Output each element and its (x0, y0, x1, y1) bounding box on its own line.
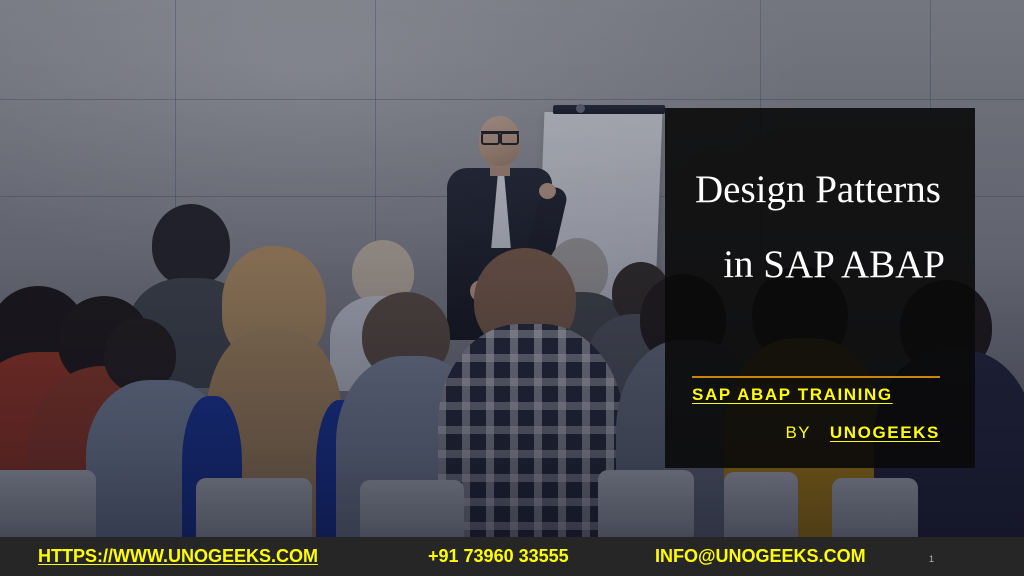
page-title-line-1: Design Patterns (687, 170, 945, 209)
footer-phone: +91 73960 33555 (428, 546, 569, 567)
byline-prefix: BY (785, 423, 810, 442)
course-name: SAP ABAP TRAINING (665, 386, 957, 403)
byline: BY UNOGEEKS (665, 424, 957, 441)
course-name-label: SAP ABAP TRAINING (692, 385, 893, 404)
presentation-slide: Design Patterns in SAP ABAP SAP ABAP TRA… (0, 0, 1024, 576)
page-title-line-2: in SAP ABAP (687, 245, 945, 284)
footer-website-link[interactable]: HTTPS://WWW.UNOGEEKS.COM (38, 546, 318, 567)
brand-name: UNOGEEKS (830, 423, 940, 442)
slide-page-number: 1 (929, 554, 934, 564)
subtitle-block: SAP ABAP TRAINING BY UNOGEEKS (665, 386, 957, 441)
footer-bar: HTTPS://WWW.UNOGEEKS.COM +91 73960 33555… (0, 537, 1024, 576)
title-spacer (687, 209, 945, 245)
accent-divider (692, 376, 940, 378)
footer-email: INFO@UNOGEEKS.COM (655, 546, 866, 567)
